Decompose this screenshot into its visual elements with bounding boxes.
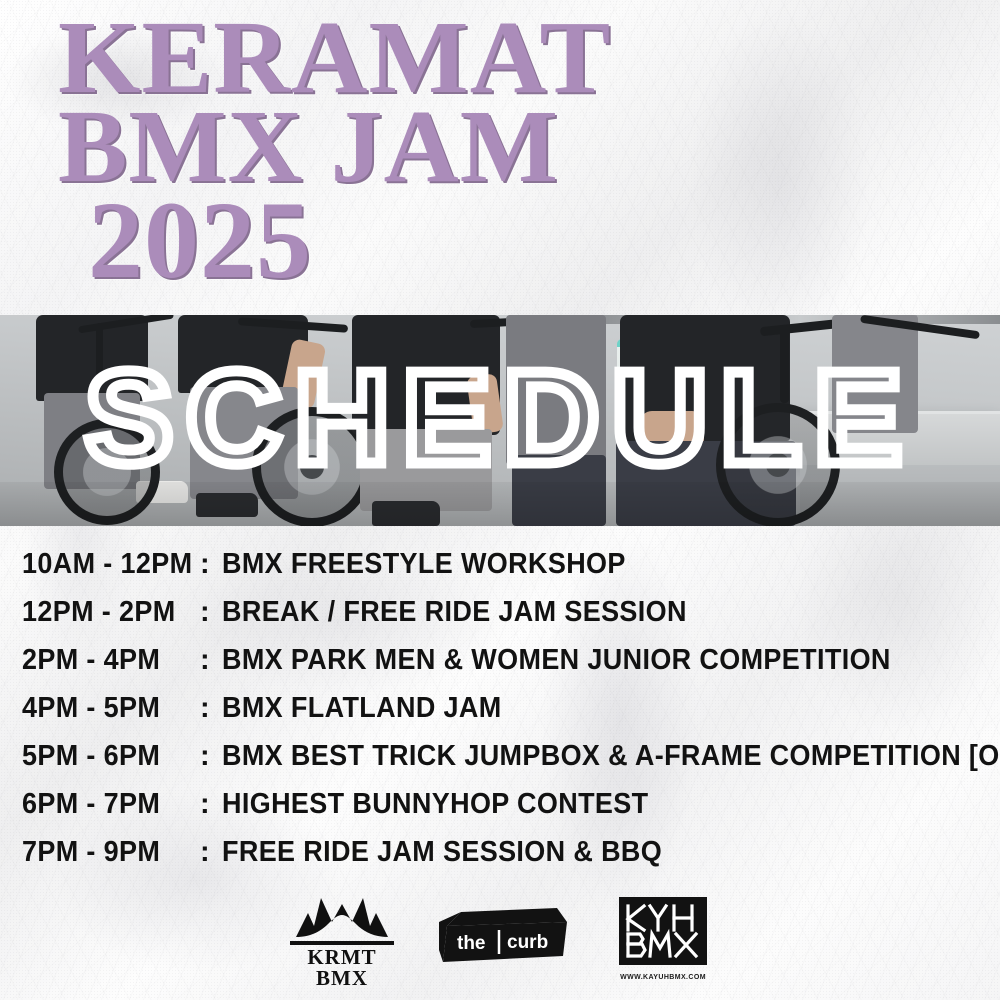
the-curb-logo[interactable]: the curb [439,896,571,971]
kyh-logo-url: WWW.KAYUHBMX.COM [615,974,711,981]
poster-canvas: KERAMAT BMX JAM 2025 [0,0,1000,1000]
schedule-time: 10AM - 12PM [22,548,188,581]
curb-word-the: the [457,933,486,954]
schedule-time: 6PM - 7PM [22,788,188,821]
schedule-row: 2PM - 4PM : BMX PARK MEN & WOMEN JUNIOR … [0,644,1000,692]
sponsor-logo-row: KRMT BMX the curb [0,896,1000,996]
svg-text:SCHEDULE: SCHEDULE [85,351,915,491]
kyh-bmx-logo[interactable]: WWW.KAYUHBMX.COM [615,896,711,981]
schedule-list: 10AM - 12PM : BMX FREESTYLE WORKSHOP 12P… [0,548,1000,884]
schedule-row: 5PM - 6PM : BMX BEST TRICK JUMPBOX & A-F… [0,740,1000,788]
schedule-row: 4PM - 5PM : BMX FLATLAND JAM [0,692,1000,740]
schedule-separator: : [200,836,222,869]
schedule-time: 7PM - 9PM [22,836,188,869]
schedule-description: BMX BEST TRICK JUMPBOX & A-FRAME COMPETI… [222,740,1000,773]
schedule-row: 7PM - 9PM : FREE RIDE JAM SESSION & BBQ [0,836,1000,884]
schedule-description: BREAK / FREE RIDE JAM SESSION [222,596,687,629]
bmx-riders-photo-band: SCHEDULE [0,315,1000,526]
schedule-separator: : [200,548,222,581]
schedule-separator: : [200,644,222,677]
schedule-row: 6PM - 7PM : HIGHEST BUNNYHOP CONTEST [0,788,1000,836]
schedule-time: 4PM - 5PM [22,692,188,725]
schedule-separator: : [200,596,222,629]
schedule-row: 10AM - 12PM : BMX FREESTYLE WORKSHOP [0,548,1000,596]
schedule-description: HIGHEST BUNNYHOP CONTEST [222,788,649,821]
krmt-logo-line2: BMX [289,968,395,989]
schedule-separator: : [200,740,222,773]
schedule-time: 2PM - 4PM [22,644,188,677]
schedule-separator: : [200,692,222,725]
schedule-separator: : [200,788,222,821]
curb-word-curb: curb [507,932,548,953]
schedule-description: BMX PARK MEN & WOMEN JUNIOR COMPETITION [222,644,891,677]
event-title-block: KERAMAT BMX JAM 2025 [0,0,1000,315]
curb-box-icon: the curb [439,904,567,966]
schedule-row: 12PM - 2PM : BREAK / FREE RIDE JAM SESSI… [0,596,1000,644]
title-line-year: 2025 [88,185,312,295]
schedule-description: FREE RIDE JAM SESSION & BBQ [222,836,662,869]
schedule-time: 5PM - 6PM [22,740,188,773]
schedule-description: BMX FREESTYLE WORKSHOP [222,548,626,581]
schedule-time: 12PM - 2PM [22,596,188,629]
krmt-logo-line1: KRMT [289,947,395,968]
starburst-icon [294,896,390,940]
krmt-bmx-logo[interactable]: KRMT BMX [289,896,395,989]
schedule-description: BMX FLATLAND JAM [222,692,502,725]
schedule-heading: SCHEDULE [0,315,1000,526]
kyh-bmx-icon [618,896,708,966]
